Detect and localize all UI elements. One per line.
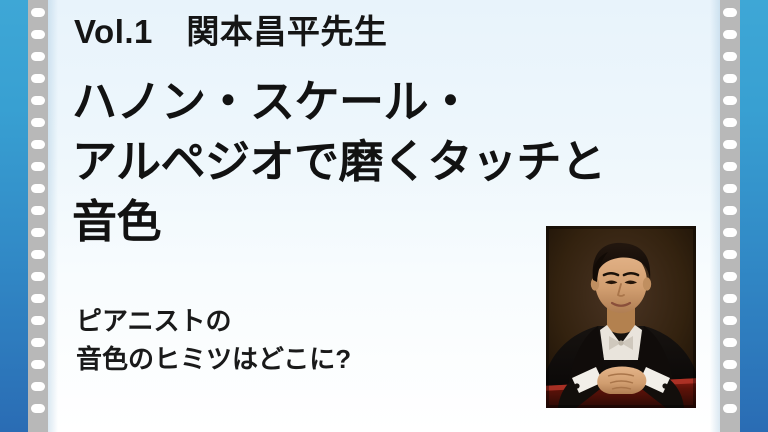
film-perforation [723,162,737,171]
headline-line-2: アルペジオで磨くタッチと [72,132,692,192]
film-edge-fade-right [710,0,720,432]
film-perforation [31,74,45,83]
film-perforation [723,74,737,83]
film-perforation [31,30,45,39]
blue-band-left [0,0,28,432]
film-perforation [31,8,45,17]
film-perforation [723,250,737,259]
film-sprocket-track-right [720,0,740,432]
film-perforation [723,228,737,237]
film-perforation [723,118,737,127]
headline: ハノン・スケール・ アルペジオで磨くタッチと 音色 [72,72,692,252]
film-perforation [31,162,45,171]
film-strip-right [710,0,768,432]
film-perforation [31,360,45,369]
film-perforation [723,272,737,281]
film-perforation [723,206,737,215]
film-edge-fade-left [48,0,58,432]
film-perforation [723,316,737,325]
film-perforation [723,30,737,39]
film-perforation [31,316,45,325]
film-perforation [31,52,45,61]
film-strip-left [0,0,58,432]
subheadline: ピアニストの 音色のヒミツはどこに? [76,303,351,378]
film-perforation [31,382,45,391]
film-perforation [723,382,737,391]
film-perforation [31,338,45,347]
subheadline-line-2: 音色のヒミツはどこに? [76,341,351,379]
subheadline-line-1: ピアニストの [76,303,351,341]
headline-line-1: ハノン・スケール・ [72,72,692,132]
film-perforation [31,184,45,193]
film-perforation [723,96,737,105]
film-perforation [31,206,45,215]
film-perforation [31,250,45,259]
film-perforation [31,140,45,149]
film-perforation [723,140,737,149]
film-perforation [723,360,737,369]
film-perforation [31,228,45,237]
portrait-illustration [546,226,696,408]
film-perforation [31,404,45,413]
film-sprocket-track-left [28,0,48,432]
volume-and-instructor-line: Vol.1 関本昌平先生 [74,14,387,50]
film-perforation [723,52,737,61]
film-perforation [31,118,45,127]
film-perforation [723,184,737,193]
film-perforation [31,96,45,105]
film-perforation [31,272,45,281]
film-perforation [723,8,737,17]
blue-band-right [740,0,768,432]
film-perforation [723,338,737,347]
film-perforation [723,404,737,413]
film-perforation [31,294,45,303]
video-thumbnail-slide: Vol.1 関本昌平先生 ハノン・スケール・ アルペジオで磨くタッチと 音色 ピ… [0,0,768,432]
instructor-portrait-photo [546,226,696,408]
film-perforation [723,294,737,303]
